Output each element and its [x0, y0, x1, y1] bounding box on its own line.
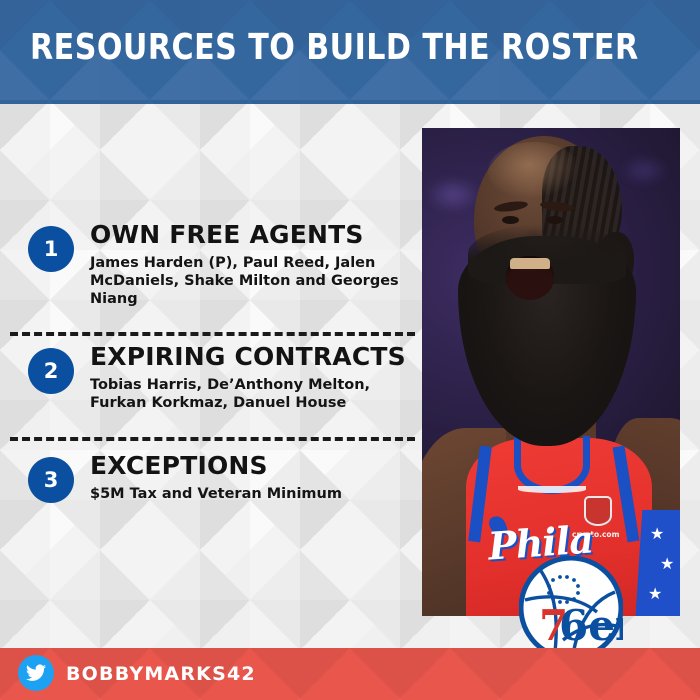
- item-heading: EXPIRING CONTRACTS: [90, 344, 410, 370]
- eye-left: [502, 216, 519, 224]
- player-photo: ★ ★ ★ crypto.com Phila 1: [422, 128, 680, 616]
- forehead-highlight: [488, 142, 580, 200]
- page-title: RESOURCES TO BUILD THE ROSTER: [30, 30, 639, 66]
- eye-right: [546, 216, 563, 224]
- infographic-canvas: RESOURCES TO BUILD THE ROSTER ★ ★ ★ cryp…: [0, 0, 700, 700]
- star-icon: ★: [650, 526, 664, 542]
- twitter-handle[interactable]: BOBBYMARKS42: [66, 663, 256, 685]
- header-bar: RESOURCES TO BUILD THE ROSTER: [0, 0, 700, 104]
- svg-text:6ers: 6ers: [559, 601, 623, 650]
- item-heading: EXCEPTIONS: [90, 453, 410, 479]
- divider-2: [10, 437, 415, 441]
- star-icon: ★: [648, 586, 662, 602]
- item-number-badge: 3: [28, 457, 74, 503]
- item-number-badge: 2: [28, 348, 74, 394]
- sixers-logo: 7 6ers: [519, 556, 623, 660]
- twitter-icon[interactable]: [18, 655, 54, 691]
- item-heading: OWN FREE AGENTS: [90, 222, 410, 248]
- star-icon: ★: [660, 556, 674, 572]
- divider-1: [10, 332, 415, 336]
- item-number-badge: 1: [28, 226, 74, 272]
- teeth: [510, 258, 550, 269]
- item-detail: James Harden (P), Paul Reed, Jalen McDan…: [90, 255, 402, 308]
- item-detail: Tobias Harris, De’Anthony Melton, Furkan…: [90, 377, 402, 412]
- item-detail: $5M Tax and Veteran Minimum: [90, 486, 402, 504]
